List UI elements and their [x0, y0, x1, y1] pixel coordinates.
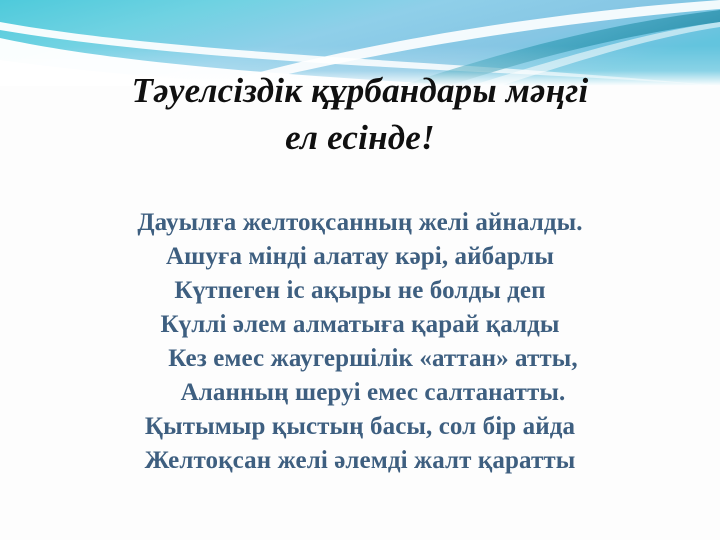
poem-line: Желтоқсан желі әлемді жалт қаратты — [18, 444, 702, 478]
poem-line: Кез емес жаугершілік «аттан» атты, — [18, 342, 702, 376]
poem-line: Аланның шеруі емес салтанатты. — [18, 376, 702, 410]
poem-line: Қытымыр қыстың басы, сол бір айда — [18, 410, 702, 444]
poem-line: Ашуға мінді алатау кәрі, айбарлы — [18, 240, 702, 274]
poem-body: Дауылға желтоқсанның желі айналды. Ашуға… — [0, 206, 720, 478]
title-line-2: ел есінде! — [28, 115, 692, 162]
poem-line: Күтпеген іс ақыры не болды деп — [18, 274, 702, 308]
poem-line: Күллі әлем алматыға қарай қалды — [18, 308, 702, 342]
title-line-1: Тәуелсіздік құрбандары мәңгі — [28, 68, 692, 115]
presentation-slide: Тәуелсіздік құрбандары мәңгі ел есінде! … — [0, 0, 720, 540]
slide-title: Тәуелсіздік құрбандары мәңгі ел есінде! — [0, 68, 720, 161]
poem-line: Дауылға желтоқсанның желі айналды. — [18, 206, 702, 240]
